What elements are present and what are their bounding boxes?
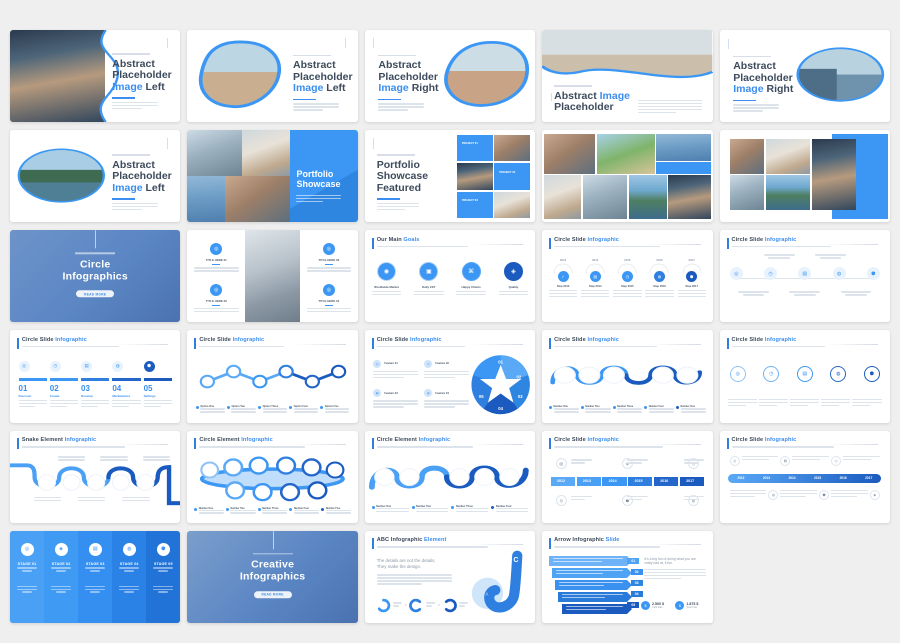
stage-label: STAGE 05 <box>150 562 176 566</box>
arrow-number: 04 <box>631 591 643 597</box>
step-icon: ✓ <box>558 271 569 282</box>
step-icon: ▤ <box>797 366 813 382</box>
quote-line-2: They make the design. <box>377 564 452 570</box>
step-icon: ◷ <box>50 361 61 372</box>
year-label: 2017 <box>856 476 882 480</box>
arrow-number: 03 <box>631 580 643 586</box>
cover-title: Circle Infographics READ MORE <box>10 253 180 300</box>
cover-title: Creative Infographics READ MORE <box>187 553 357 600</box>
slide-title-line-3a: Image <box>112 81 142 93</box>
slide-thumbnail[interactable]: Abstract Placeholder Image Right <box>720 30 890 122</box>
header-text-b: Infographic <box>587 337 619 343</box>
year-label: 2013 <box>583 479 591 483</box>
year-chevron: 2017 <box>680 477 704 486</box>
step-icon: ◎ <box>556 495 567 506</box>
slide-thumbnail[interactable]: Circle Slide Infographic ◎Feature 01 ▤Fe… <box>365 330 535 422</box>
year-label: 2016 <box>830 476 856 480</box>
year-chevron: 2013 <box>577 477 601 486</box>
slide-header: Circle Slide Infographic <box>732 438 879 449</box>
step-icon: ▤ <box>81 361 92 372</box>
step-label: Settings <box>144 394 172 398</box>
goal-icon: ▣ <box>419 262 438 281</box>
arrow-number: 01 <box>627 558 639 564</box>
feature-label: Feature 02 <box>435 362 448 365</box>
step-icon: ▤ <box>590 271 601 282</box>
step-icon: ◷ <box>831 456 841 466</box>
slide-thumbnail[interactable]: Abstract Placeholder Image Right <box>365 30 535 122</box>
goal-icon: ⌘ <box>462 262 481 281</box>
stage-icon: ⬢ <box>157 543 170 556</box>
header-text-a: Circle Slide <box>554 237 587 243</box>
header-text-b: Infographic <box>55 337 87 343</box>
read-more-button[interactable]: READ MORE <box>254 591 292 598</box>
slide-thumbnail[interactable]: Circle Slide Infographic ◎ ◷ ▤ ◍ ⬢ <box>720 330 890 422</box>
slide-thumbnail[interactable] <box>720 130 890 222</box>
slide-thumbnail[interactable]: Portfolio Showcase Featured PROJECT 01 P… <box>365 130 535 222</box>
slide-thumbnail[interactable]: ◎ STAGE 01 ◈ STAGE 02 ▤ STAGE 03 ◍ STAGE… <box>10 531 180 623</box>
slide-thumbnail[interactable]: Our Main Goals ◉ Worldwide Market ▣ Dail… <box>365 230 535 322</box>
step-number: 01 <box>19 384 47 393</box>
header-text-b: Infographic <box>587 437 619 443</box>
step-icon: ▤ <box>798 267 811 280</box>
header-text-b: Infographic <box>419 437 451 443</box>
letter-label: B <box>502 574 507 581</box>
step-icon: ◎ <box>19 361 30 372</box>
segment-number: 01 <box>499 360 504 365</box>
step-icon: ▤ <box>556 458 567 469</box>
tile-label: PROJECT 01 <box>462 142 478 145</box>
step-label: Marketplace <box>112 394 140 398</box>
stage-icon: ▤ <box>89 543 102 556</box>
step-icon: ◍ <box>112 361 123 372</box>
stat-icon: $ <box>675 601 684 610</box>
feature-icon: ◎ <box>210 284 222 296</box>
read-more-button[interactable]: READ MORE <box>76 291 114 298</box>
slide-header: Circle Element Infographic <box>377 438 524 449</box>
step-number: 05 <box>144 384 172 393</box>
header-text-b: Infographic <box>241 437 273 443</box>
goal-label: Worldwide Market <box>372 285 402 289</box>
year-chevron: 2012 <box>551 477 575 486</box>
slide-thumbnail[interactable]: Circle Infographics READ MORE <box>10 230 180 322</box>
slide-thumbnail[interactable] <box>542 130 712 222</box>
slide-header: Circle Slide Infographic <box>554 438 701 449</box>
header-text-b: Infographic <box>65 437 97 443</box>
slide-thumbnail[interactable]: Circle Slide Infographic ◎ ◷ ▤ ◍ ⬢ 01Dis… <box>10 330 180 422</box>
year-label: 2015 <box>805 476 831 480</box>
cover-title-line-1: Circle <box>10 258 180 270</box>
year-label: 2013 <box>754 476 780 480</box>
slide-thumbnail[interactable]: Abstract Placeholder Image Left <box>187 30 357 122</box>
slide-thumbnail[interactable]: Circle Element Infographic Number One Nu… <box>365 431 535 523</box>
step-icon: ◎ <box>730 267 743 280</box>
slide-header: Circle Slide Infographic <box>377 338 524 349</box>
slide-header: Our Main Goals <box>377 238 524 249</box>
goal-label: Happy Clients <box>456 285 486 289</box>
feature-icon: ◎ <box>323 243 335 255</box>
header-text-a: Our Main <box>377 237 404 243</box>
header-text-a: Circle Slide <box>377 337 410 343</box>
year-label: 2012 <box>557 479 565 483</box>
cover-title-line-1: Portfolio <box>296 169 340 180</box>
goal-label: Quality <box>499 285 529 289</box>
slide-thumbnail[interactable]: Creative Infographics READ MORE <box>187 531 357 623</box>
year-chevron: 2016 <box>654 477 678 486</box>
header-text-b: Infographic <box>765 237 797 243</box>
slide-header: Circle Slide Infographic <box>732 238 879 249</box>
goal-icon: ◉ <box>377 262 396 281</box>
stage-label: STAGE 04 <box>116 562 142 566</box>
step-label: Step 2015 <box>613 285 641 288</box>
step-icon: ◍ <box>830 366 846 382</box>
feature-label: TITLE HERE 01 <box>194 258 238 262</box>
kicker-rule <box>112 53 150 55</box>
feature-icon: ◎ <box>210 243 222 255</box>
stage-icon: ◍ <box>123 543 136 556</box>
feature-label: Feature 04 <box>435 392 448 395</box>
step-label: Create <box>50 394 78 398</box>
slide-thumbnail[interactable]: Portfolio Showcase <box>187 130 357 222</box>
header-text-a: Circle Slide <box>732 337 765 343</box>
step-label: Step 2014 <box>581 285 609 288</box>
step-icon: ◍ <box>768 490 778 500</box>
slide-header: Circle Element Infographic <box>199 438 346 449</box>
lead-line-2: really bad at, it fun. <box>644 561 705 566</box>
cover-title-line-2: Infographics <box>187 571 357 583</box>
header-text-a: Circle Slide <box>554 337 587 343</box>
slide-thumbnail[interactable]: ABC Infographic Element The details are … <box>365 531 535 623</box>
header-text-a: Circle Element <box>199 437 241 443</box>
step-icon: ◎ <box>730 366 746 382</box>
step-icon: ◈ <box>870 490 880 500</box>
header-text-a: Circle Slide <box>22 337 55 343</box>
slide-thumbnail[interactable]: Circle Slide Infographic ▤ ◈ ◷ 2012 2013… <box>542 431 712 523</box>
slide-thumbnail[interactable]: Circle Slide Infographic Number One Numb… <box>542 330 712 422</box>
stage-label: STAGE 01 <box>14 562 40 566</box>
cover-title: Portfolio Showcase <box>296 169 340 190</box>
cover-title-line-2: Showcase <box>296 179 340 190</box>
header-text-b: Infographic <box>410 337 442 343</box>
step-icon: ◷ <box>622 271 633 282</box>
header-text-a: Circle Slide <box>199 337 232 343</box>
slide-thumbnail[interactable]: Circle Slide Infographic ◎ ◷ ▤ ◍ ⬢ <box>720 230 890 322</box>
feature-icon: ▤ <box>373 389 381 397</box>
header-text-a: Circle Slide <box>554 437 587 443</box>
segment-number: 03 <box>518 394 523 399</box>
segment-number: 04 <box>499 406 504 411</box>
slide-header: Circle Slide Infographic <box>554 338 701 349</box>
stat-label: Total Sale <box>652 606 664 609</box>
header-text-b: Infographic <box>233 337 265 343</box>
slide-thumbnail[interactable]: Circle Slide Infographic 2013 ✓ Step 201… <box>542 230 712 322</box>
step-number: 03 <box>81 384 109 393</box>
header-text-a: Circle Slide <box>732 237 765 243</box>
feature-label: Feature 01 <box>384 362 397 365</box>
feature-icon: ◍ <box>424 389 432 397</box>
slide-thumbnail[interactable]: Circle Element Infographic Number One Nu… <box>187 431 357 523</box>
body-text <box>638 100 703 115</box>
stage-label: STAGE 03 <box>82 562 108 566</box>
tile-label: PROJECT 02 <box>499 171 515 174</box>
year-label: 2015 <box>634 479 642 483</box>
goal-icon: ◈ <box>504 262 523 281</box>
slide-title-line-2: Showcase <box>377 171 428 183</box>
arrow-number: 05 <box>627 602 639 608</box>
slide-header: Circle Slide Infographic <box>554 238 701 249</box>
feature-label: TITLE HERE 04 <box>307 299 351 303</box>
cover-title-line-1: Creative <box>187 559 357 571</box>
slide-header: Circle Slide Infographic <box>199 338 346 349</box>
stage-icon: ◎ <box>21 543 34 556</box>
slide-thumbnail[interactable]: Circle Slide Infographic ◎ ▤ ◷ 2012 2013… <box>720 431 890 523</box>
step-label: Develop <box>81 394 109 398</box>
year-chevron: 2014 <box>602 477 626 486</box>
slide-header: Circle Slide Infographic <box>22 338 169 349</box>
body-text <box>112 102 172 109</box>
step-icon: ⬢ <box>867 267 880 280</box>
slide-thumbnail[interactable]: Arrow Infographic Slide 01 02 03 04 05 I… <box>542 531 712 623</box>
feature-label: TITLE HERE 02 <box>307 258 351 262</box>
step-icon: ◷ <box>764 267 777 280</box>
segment-number: 05 <box>479 394 484 399</box>
step-icon: ⬢ <box>144 361 155 372</box>
arrow-number: 02 <box>631 569 643 575</box>
header-text-a: Snake Element <box>22 437 65 443</box>
header-text-a: ABC Infographic <box>377 537 424 543</box>
feature-icon: ◷ <box>424 360 432 368</box>
slide-title-line-3: Featured <box>377 183 428 195</box>
header-text-a: Arrow Infographic <box>554 537 606 543</box>
stat-label: Total Cost <box>686 606 698 609</box>
step-label: Step 2016 <box>645 285 673 288</box>
step-label: Discover <box>19 394 47 398</box>
step-icon: ◎ <box>730 456 740 466</box>
step-number: 04 <box>112 384 140 393</box>
year-label: 2016 <box>660 479 668 483</box>
slide-header: Snake Element Infographic <box>22 438 169 449</box>
step-icon: ⬢ <box>864 366 880 382</box>
header-text-b: Infographic <box>765 337 797 343</box>
header-text-b: Infographic <box>587 237 619 243</box>
header-text-b: Goals <box>403 237 419 243</box>
header-text-b: Infographic <box>765 437 797 443</box>
cover-title-line-2: Infographics <box>10 270 180 282</box>
slide-thumbnail[interactable]: Abstract Placeholder Image Left <box>10 30 180 122</box>
letter-label: A <box>485 592 489 597</box>
step-label: Step 2017 <box>678 285 706 288</box>
letter-label: C <box>513 557 518 564</box>
step-icon: ◍ <box>654 271 665 282</box>
stage-label: STAGE 02 <box>48 562 74 566</box>
header-text-a: Circle Element <box>377 437 419 443</box>
year-label: 2017 <box>686 479 694 483</box>
slide-header: Circle Slide Infographic <box>732 338 879 349</box>
slide-header: Arrow Infographic Slide <box>554 538 701 549</box>
year-label: 2014 <box>779 476 805 480</box>
step-icon: ⬢ <box>686 271 697 282</box>
slide-thumbnail[interactable]: ◎ TITLE HERE 01 ◎ TITLE HERE 03 ◎ TITLE … <box>187 230 357 322</box>
goal-label: Daily 24/7 <box>414 285 444 289</box>
year-label: 2014 <box>609 479 617 483</box>
feature-label: TITLE HERE 03 <box>194 299 238 303</box>
feature-icon: ◎ <box>373 360 381 368</box>
slide-thumbnail-grid: Abstract Placeholder Image Left Abstract… <box>0 0 900 643</box>
tile-label: PROJECT 03 <box>462 199 478 202</box>
stat-icon: $ <box>641 601 650 610</box>
header-text-b: Slide <box>606 537 620 543</box>
step-icon: ◷ <box>763 366 779 382</box>
slide-thumbnail[interactable]: Circle Slide Infographic Option One Opti… <box>187 330 357 422</box>
slide-thumbnail[interactable]: Abstract Image Placeholder <box>542 30 712 122</box>
stage-icon: ◈ <box>55 543 68 556</box>
segment-number: 02 <box>517 375 522 380</box>
header-text-a: Circle Slide <box>732 437 765 443</box>
feature-label: Feature 03 <box>384 392 397 395</box>
slide-thumbnail[interactable]: Snake Element Infographic <box>10 431 180 523</box>
step-icon: ◍ <box>833 267 846 280</box>
year-chevron: 2015 <box>628 477 652 486</box>
slide-header: ABC Infographic Element <box>377 538 524 549</box>
step-icon: ⬢ <box>819 490 829 500</box>
step-icon: ▤ <box>780 456 790 466</box>
slide-title-line-2: Placeholder <box>554 102 630 114</box>
slide-thumbnail[interactable]: Abstract Placeholder Image Left <box>10 130 180 222</box>
step-number: 02 <box>50 384 78 393</box>
step-label: Step 2013 <box>549 285 577 288</box>
header-text-b: Element <box>424 537 446 543</box>
year-label: 2012 <box>728 476 754 480</box>
feature-icon: ◎ <box>323 284 335 296</box>
